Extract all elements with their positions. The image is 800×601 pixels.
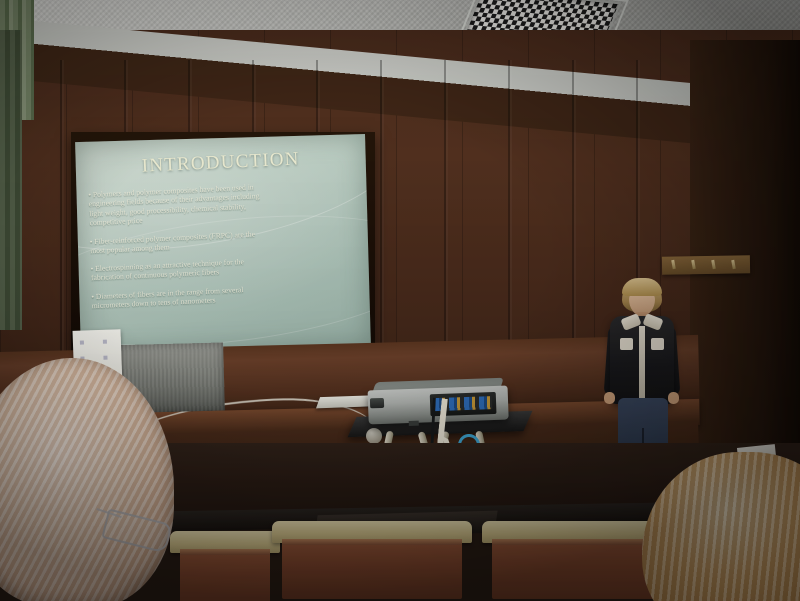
seat-back: [180, 549, 270, 601]
presenter-right-hand: [668, 392, 679, 404]
seat-edge: [282, 539, 462, 545]
window-curtain-lower: [0, 30, 22, 330]
presenter-left-hand: [604, 392, 615, 404]
presenter-jacket-placket: [639, 326, 645, 402]
projector-foot: [409, 421, 419, 426]
slide-bullet: • Electrospinning as an attractive techn…: [90, 252, 357, 283]
presenter-pocket-left: [620, 338, 633, 350]
projector-lens-icon: [370, 398, 384, 408]
projected-slide: INTRODUCTION • Polymers and polymer comp…: [75, 134, 371, 354]
projection-screen: INTRODUCTION • Polymers and polymer comp…: [75, 134, 371, 354]
slide-bullet: • Fiber-reinforced polymer composites (F…: [90, 224, 357, 255]
lecture-seat[interactable]: [272, 521, 472, 601]
slide-bullet: • Diameters of fibers are in the range f…: [91, 280, 358, 311]
presenter-fringe: [622, 278, 662, 296]
lecture-seat[interactable]: [170, 531, 280, 601]
slide-bullet-list: • Polymers and polymer composites have b…: [88, 180, 358, 317]
cart-wheel: [366, 428, 382, 444]
seat-back: [282, 539, 462, 599]
right-wall: [690, 40, 800, 510]
seat-edge: [180, 549, 270, 555]
presenter-pocket-right: [651, 338, 664, 350]
lecture-hall-photo: INTRODUCTION • Polymers and polymer comp…: [0, 0, 800, 601]
